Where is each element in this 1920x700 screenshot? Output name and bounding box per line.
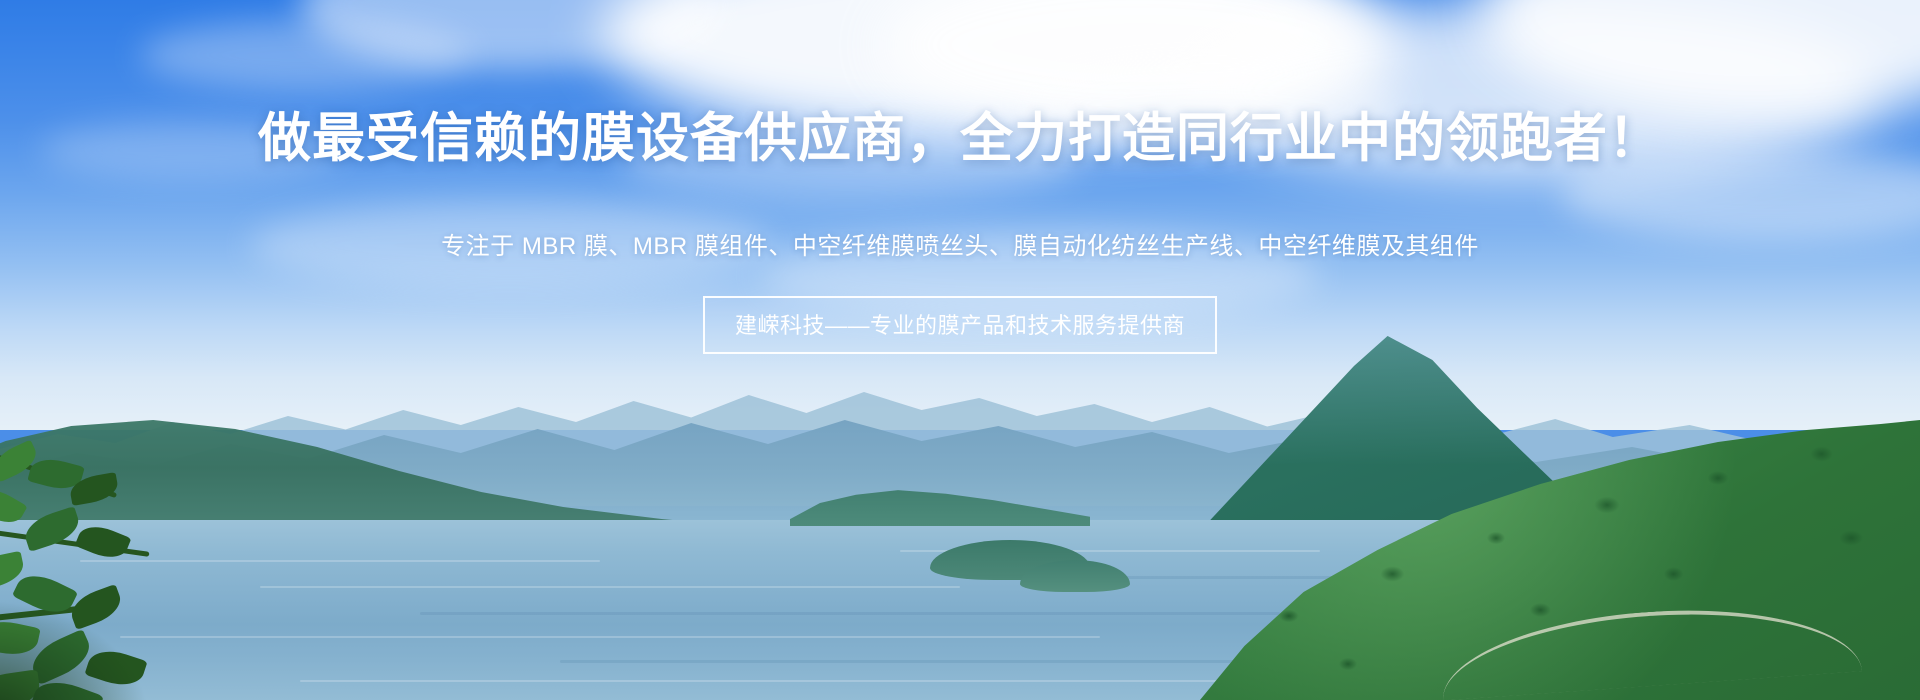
banner-subtitle: 专注于 MBR 膜、MBR 膜组件、中空纤维膜喷丝头、膜自动化纺丝生产线、中空纤… [0,226,1920,261]
hero-banner: 做最受信赖的膜设备供应商，全力打造同行业中的领跑者！ 专注于 MBR 膜、MBR… [0,0,1920,700]
banner-tagline-container: 建嵘科技——专业的膜产品和技术服务提供商 [0,296,1920,354]
banner-headline: 做最受信赖的膜设备供应商，全力打造同行业中的领跑者！ [0,108,1920,171]
banner-text-overlay: 做最受信赖的膜设备供应商，全力打造同行业中的领跑者！ 专注于 MBR 膜、MBR… [0,0,1920,700]
banner-tagline-box: 建嵘科技——专业的膜产品和技术服务提供商 [703,296,1217,354]
